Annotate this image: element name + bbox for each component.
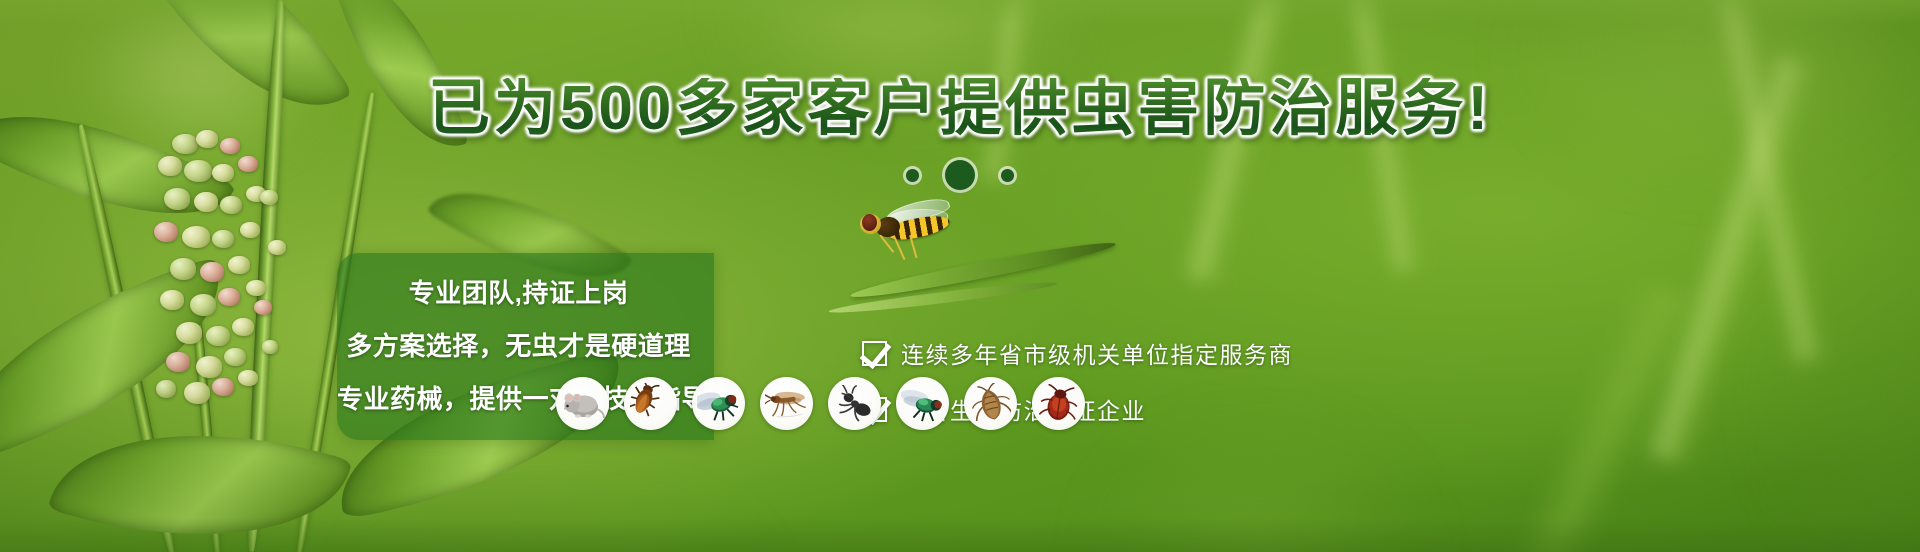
checklist-item: 连续多年省市级机关单位指定服务商 (862, 336, 1293, 370)
pest-icon-bedbug[interactable] (1032, 377, 1085, 430)
housefly-icon (697, 386, 741, 422)
hoverfly-scene (838, 196, 1138, 306)
mouse-icon (561, 387, 605, 421)
pest-icon-row (556, 377, 1085, 430)
pest-icon-housefly[interactable] (692, 377, 745, 430)
pest-icon-flea[interactable] (964, 377, 1017, 430)
decorative-dot-large-center (945, 160, 975, 190)
page-title: 已为500多家客户提供虫害防治服务! (0, 78, 1920, 140)
pest-icon-greenfly[interactable] (896, 377, 949, 430)
pest-control-hero-banner: 已为500多家客户提供虫害防治服务! 专业团队,持证上岗 多方案选择，无虫才是硬… (0, 0, 1920, 552)
pest-icon-mosquito[interactable] (760, 377, 813, 430)
pest-icon-mouse[interactable] (556, 377, 609, 430)
cockroach-icon (630, 383, 672, 425)
flea-icon (971, 383, 1011, 425)
hoverfly-eye (862, 214, 877, 231)
hoverfly-icon (854, 200, 964, 256)
checklist-item-label: 连续多年省市级机关单位指定服务商 (901, 336, 1293, 370)
pest-icon-ant[interactable] (828, 377, 881, 430)
decorative-dot-small-right (1001, 169, 1014, 182)
pest-icon-cockroach[interactable] (624, 377, 677, 430)
mosquito-icon (765, 385, 809, 423)
decorative-dot-group (906, 160, 1014, 190)
checkbox-checked-icon (862, 341, 887, 366)
bedbug-icon (1039, 384, 1079, 424)
greenfly-icon (901, 386, 945, 422)
decorative-dot-small-left (906, 169, 919, 182)
ant-icon (834, 385, 876, 423)
slogan-line-2: 多方案选择，无虫才是硬道理 (337, 326, 700, 363)
slogan-line-1: 专业团队,持证上岗 (337, 273, 700, 310)
